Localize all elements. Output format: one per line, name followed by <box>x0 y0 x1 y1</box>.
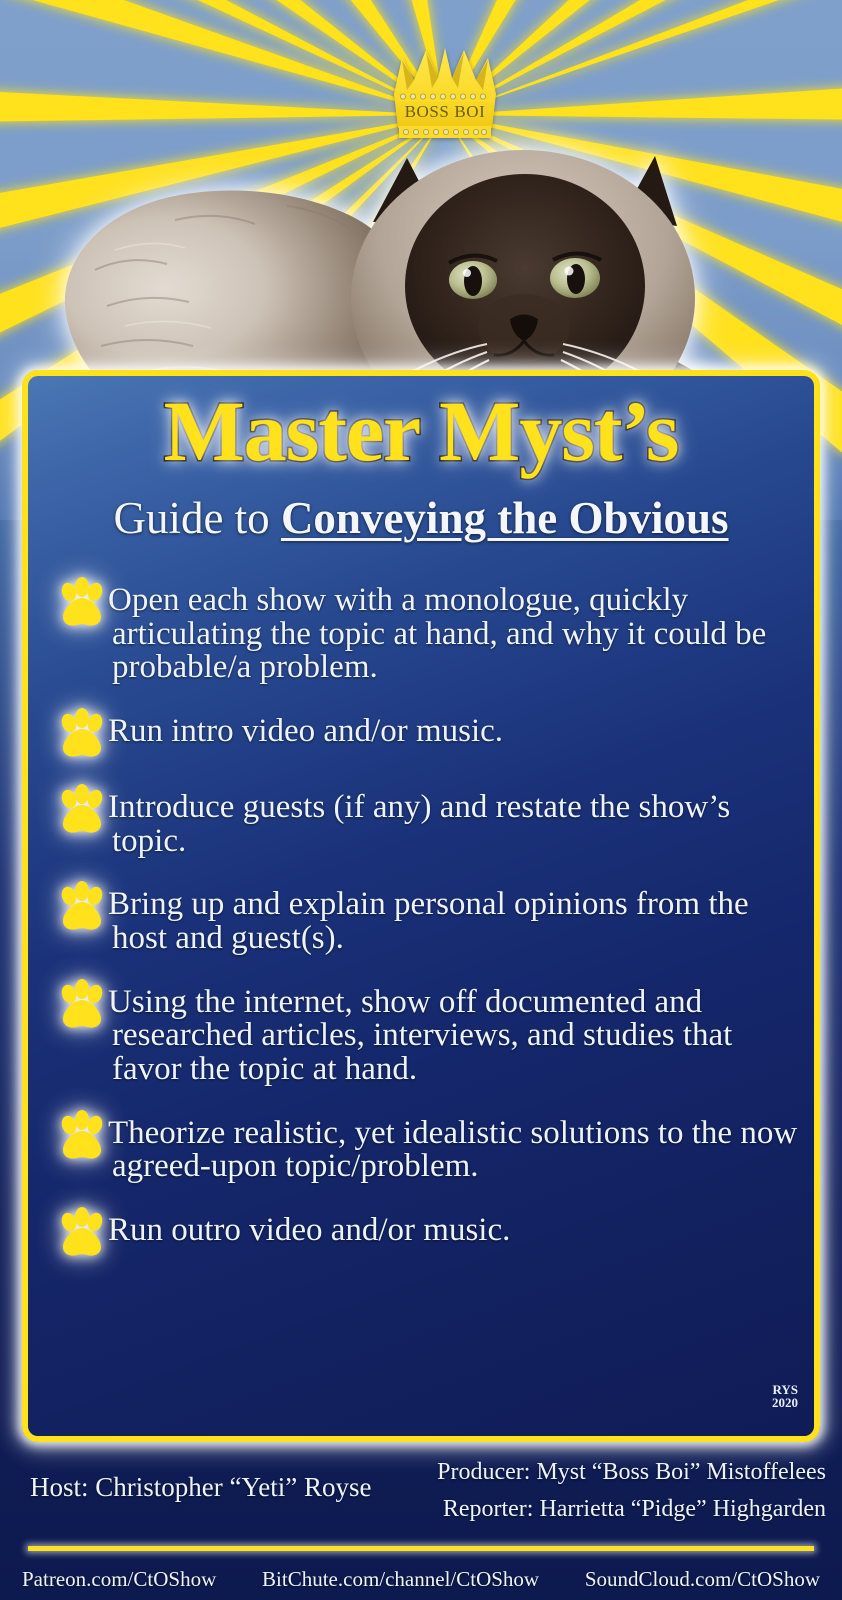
list-item: Using the internet, show off documented … <box>50 978 798 1087</box>
list-item-text: Using the internet, show off documented … <box>50 978 798 1087</box>
paw-print-icon <box>54 783 110 839</box>
link-soundcloud[interactable]: SoundCloud.com/CtOShow <box>585 1567 820 1592</box>
list-item-text: Run intro video and/or music. <box>50 707 798 749</box>
list-item-text: Bring up and explain personal opinions f… <box>50 880 798 955</box>
subtitle-lead: Guide to <box>113 493 280 543</box>
link-patreon[interactable]: Patreon.com/CtOShow <box>22 1567 216 1592</box>
steps-list: Open each show with a monologue, quickly… <box>50 576 798 1282</box>
page-subtitle: Guide to Conveying the Obvious <box>28 494 814 543</box>
paw-print-icon <box>54 1206 110 1262</box>
list-item: Theorize realistic, yet idealistic solut… <box>50 1109 798 1184</box>
link-bitchute[interactable]: BitChute.com/channel/CtOShow <box>262 1567 539 1592</box>
credits-section: Host: Christopher “Yeti” Royse Producer:… <box>0 1452 842 1544</box>
crown-icon: BOSS BOI <box>382 48 508 152</box>
reporter-credit: Reporter: Harrietta “Pidge” Highgarden <box>437 1491 826 1528</box>
signature-year: 2020 <box>772 1396 798 1410</box>
paw-print-icon <box>54 576 110 632</box>
signature-initials: RYS <box>772 1383 798 1397</box>
host-credit: Host: Christopher “Yeti” Royse <box>30 1472 372 1503</box>
subtitle-emphasis: Conveying the Obvious <box>281 493 729 543</box>
paw-print-icon <box>54 707 110 763</box>
staff-credits: Producer: Myst “Boss Boi” Mistoffelees R… <box>437 1454 826 1528</box>
list-item-text: Introduce guests (if any) and restate th… <box>50 783 798 858</box>
list-item: Bring up and explain personal opinions f… <box>50 880 798 955</box>
list-item-text: Open each show with a monologue, quickly… <box>50 576 798 685</box>
footer-divider <box>28 1546 814 1551</box>
list-item: Run outro video and/or music. <box>50 1206 798 1260</box>
list-item-text: Theorize realistic, yet idealistic solut… <box>50 1109 798 1184</box>
page-title: Master Myst’s <box>28 388 814 474</box>
list-item: Open each show with a monologue, quickly… <box>50 576 798 685</box>
list-item: Introduce guests (if any) and restate th… <box>50 783 798 858</box>
artist-signature: RYS 2020 <box>772 1383 798 1410</box>
list-item: Run intro video and/or music. <box>50 707 798 761</box>
paw-print-icon <box>54 880 110 936</box>
paw-print-icon <box>54 978 110 1034</box>
infographic-poster: BOSS BOI Master Myst’s Guide to Conveyin… <box>0 0 842 1600</box>
producer-credit: Producer: Myst “Boss Boi” Mistoffelees <box>437 1454 826 1491</box>
content-frame: Master Myst’s Guide to Conveying the Obv… <box>22 370 820 1442</box>
list-item-text: Run outro video and/or music. <box>50 1206 798 1248</box>
footer-links: Patreon.com/CtOShow BitChute.com/channel… <box>0 1558 842 1600</box>
paw-print-icon <box>54 1109 110 1165</box>
